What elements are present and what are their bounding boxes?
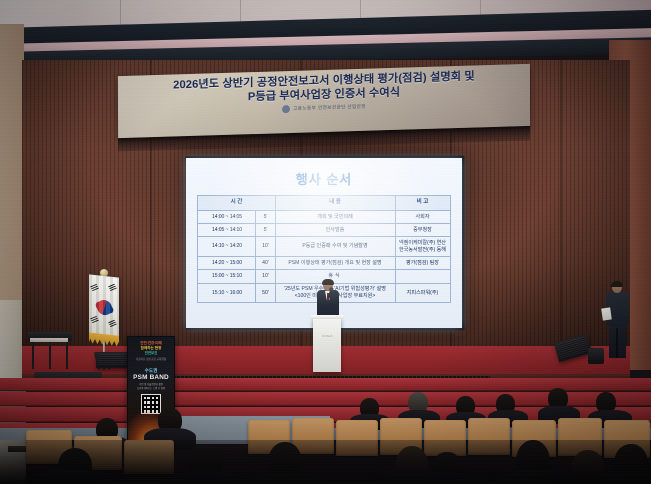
agenda-duration: 40' (256, 257, 275, 270)
table-row: 14:10 ~ 14:20 10' P등급 인증패 수여 및 기념촬영 넥켐이케… (198, 237, 450, 257)
stage-subwoofer-right (588, 348, 604, 364)
agenda-content: 개회 및 국민의례 (275, 211, 395, 224)
overhead-event-banner: 2026년도 상반기 공정안전보고서 이행상태 평가(점검) 설명회 및 P등급… (118, 64, 530, 138)
agenda-note: 넥켐이케미칼(주) 연산 한국농서발전(주) 동해 (395, 237, 450, 257)
slide-title: 행사 순서 (186, 169, 462, 188)
staff-person-right (602, 282, 636, 362)
taeguk-symbol (94, 298, 114, 318)
agenda-time: 14:20 ~ 15:00 (198, 257, 256, 270)
photo-scene: 2026년도 상반기 공정안전보고서 이행상태 평가(점검) 설명회 및 P등급… (0, 0, 651, 484)
agenda-time: 14:10 ~ 14:20 (198, 237, 256, 257)
agenda-header-row: 시 간 내 용 비 고 (198, 196, 450, 211)
left-wall-upper (0, 24, 24, 324)
table-row: 14:05 ~ 14:10 5' 인사말씀 중부청장 (198, 224, 450, 237)
standee-line-3: 안전보건 (130, 351, 172, 356)
agenda-time: 15:10 ~ 16:00 (198, 283, 256, 303)
agenda-time: 14:00 ~ 14:05 (198, 211, 256, 224)
banner-org-text: 고용노동부 안전보건공단 산업안전 (293, 104, 366, 112)
podium: KOSHA (313, 318, 341, 372)
taegukgi-flag-icon (89, 274, 119, 339)
agenda-header-note: 비 고 (395, 196, 450, 211)
table-row: 14:00 ~ 14:05 5' 개회 및 국민의례 사회자 (198, 211, 450, 224)
table-row: 14:20 ~ 15:00 40' PSM 이행상태 평가(점검) 개요 및 현… (198, 257, 450, 270)
held-papers (601, 307, 612, 320)
agenda-content: P등급 인증패 수여 및 기념촬영 (275, 237, 395, 257)
agenda-note: 사회자 (395, 211, 450, 224)
agenda-duration: 50' (256, 283, 275, 303)
agenda-content: 인사말씀 (275, 224, 395, 237)
standee-subtitle: 기술자료·정보교류·교육일정 (130, 358, 172, 362)
agenda-duration: 10' (256, 270, 275, 283)
agenda-header-time: 시 간 (198, 196, 275, 211)
agenda-duration: 5' (256, 211, 275, 224)
standee-brand-en: PSM BAND (128, 374, 174, 382)
ministry-seal-icon (282, 105, 290, 113)
podium-emblem: KOSHA (319, 334, 336, 339)
agenda-note: 평가(점검) 팀장 (395, 257, 450, 270)
agenda-note: 중부청장 (395, 224, 450, 237)
foreground-shadow (0, 440, 651, 484)
agenda-note (395, 270, 450, 283)
agenda-note: 지피스파워(주) (395, 283, 450, 303)
agenda-header-content: 내 용 (275, 196, 395, 211)
piano (28, 332, 72, 370)
stage-monitor-speaker-left (96, 352, 130, 368)
standee-description: 가입 및 자율점검표 활용 오른쪽 QR코드 스캔 후 참여 (128, 383, 174, 390)
agenda-content: PSM 이행상태 평가(점검) 개요 및 현장 설명 (275, 257, 395, 270)
agenda-time: 15:00 ~ 15:10 (198, 270, 256, 283)
agenda-time: 14:05 ~ 14:10 (198, 224, 256, 237)
agenda-duration: 5' (256, 224, 275, 237)
agenda-duration: 10' (256, 237, 275, 257)
